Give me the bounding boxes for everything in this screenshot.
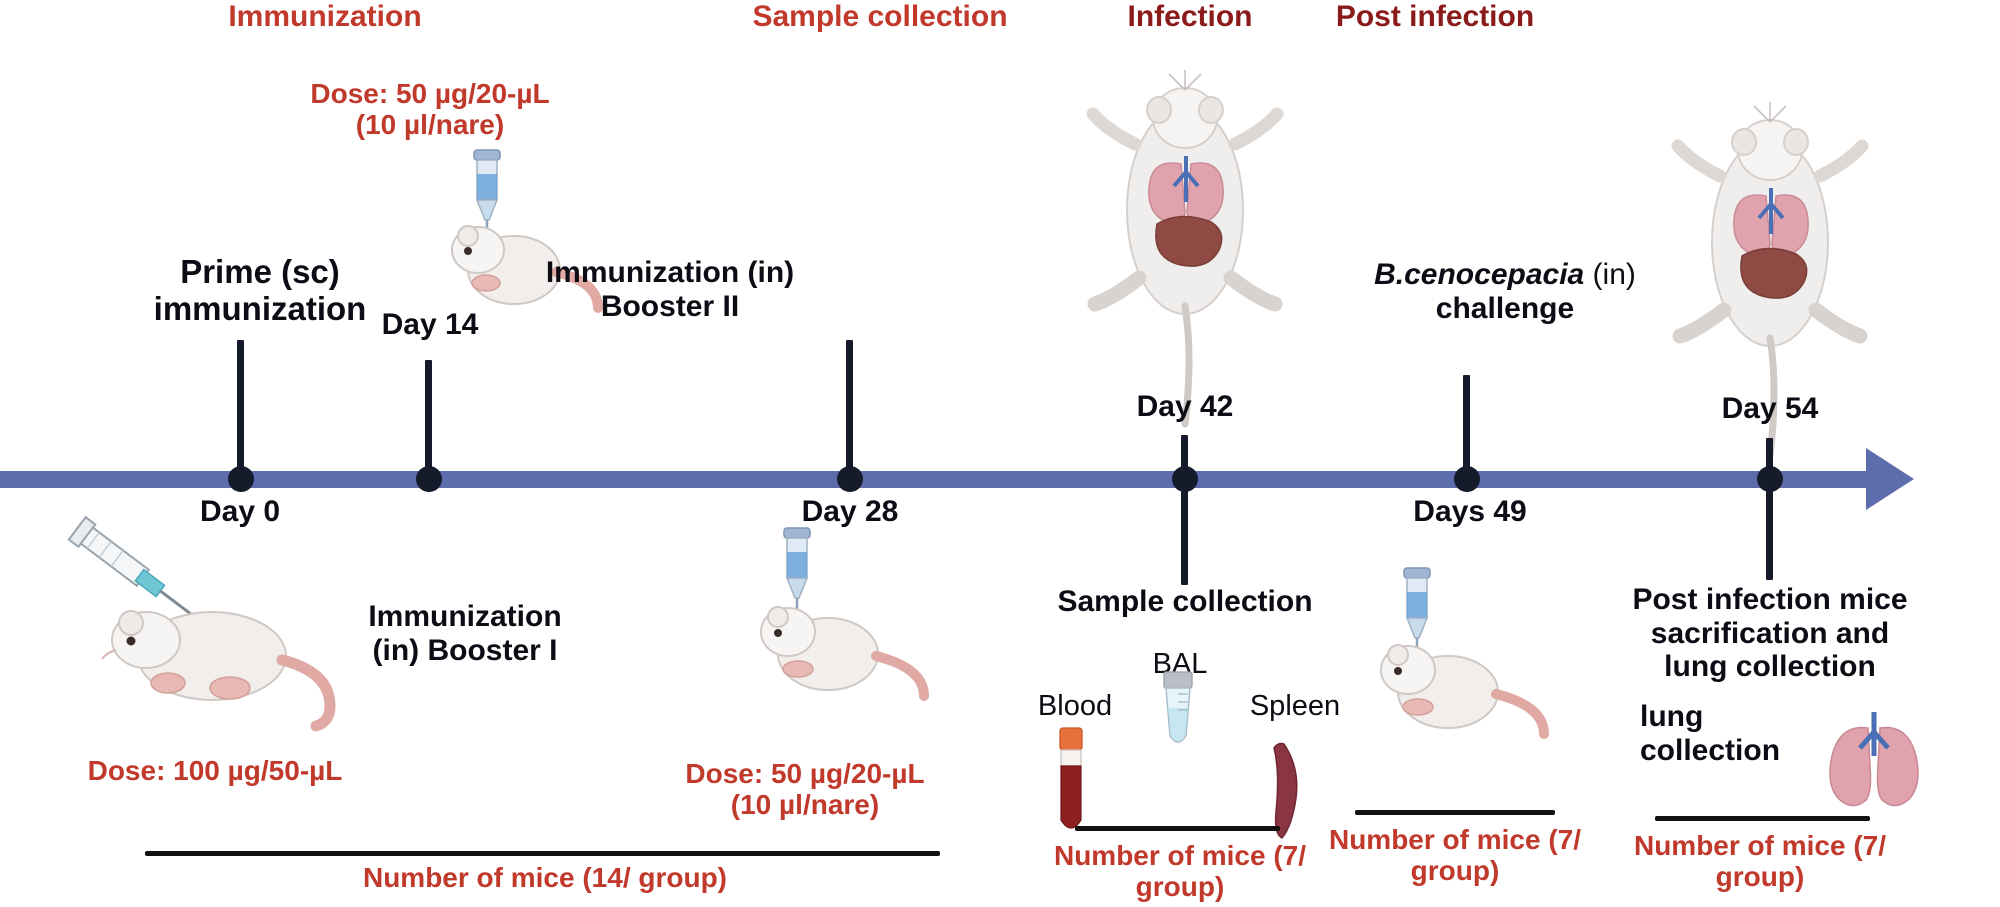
nasal-dropper-mouse-illustration-2: [740, 528, 970, 708]
phase-header-sample-collection: Sample collection: [720, 0, 1040, 34]
event-day28-title-line1: Immunization (in): [500, 256, 840, 290]
event-day49-title-line1: B.cenocepacia (in): [1320, 258, 1690, 292]
dose-label-day28-line2: (10 µl/nare): [615, 789, 995, 820]
node-day49: [1454, 466, 1480, 492]
event-day42-title: Sample collection: [1040, 585, 1330, 619]
bracket-post-group: [1655, 816, 1870, 821]
dose-label-day14-line1: Dose: 50 µg/20-µL: [265, 78, 595, 109]
mice-count-infection-line2: group): [1310, 855, 1600, 886]
dose-label-day28: Dose: 50 µg/20-µL (10 µl/nare): [615, 758, 995, 821]
dose-label-day14-line2: (10 µl/nare): [265, 109, 595, 140]
event-day54-sub-line2: collection: [1640, 734, 1820, 768]
node-day14: [416, 466, 442, 492]
event-day54-title: Post infection mice sacrification and lu…: [1580, 583, 1960, 684]
dissected-mouse-illustration-2: [1680, 92, 1860, 412]
event-day0-title-line1: Prime (sc): [110, 254, 410, 291]
spleen-icon: [1264, 740, 1314, 850]
stem-day28: [846, 340, 853, 478]
mice-count-sample: Number of mice (7/ group): [1035, 840, 1325, 903]
event-day54-title-line3: lung collection: [1580, 650, 1960, 684]
dose-label-day28-line1: Dose: 50 µg/20-µL: [615, 758, 995, 789]
day-label-day0: Day 0: [140, 495, 340, 529]
sample-label-blood: Blood: [1010, 690, 1140, 723]
event-day14-title: Immunization (in) Booster I: [295, 600, 635, 667]
event-day54-title-line1: Post infection mice: [1580, 583, 1960, 617]
mice-count-post-line2: group): [1610, 861, 1910, 892]
event-day14-title-line1: Immunization: [295, 600, 635, 634]
route-label: (in): [1584, 258, 1636, 291]
lungs-icon: [1820, 706, 1930, 806]
day-label-day54: Day 54: [1670, 392, 1870, 426]
bracket-sample-group: [1075, 826, 1280, 831]
node-day0: [228, 466, 254, 492]
pathogen-name: B.cenocepacia: [1374, 258, 1584, 291]
phase-header-immunization: Immunization: [180, 0, 470, 34]
stem-day0: [237, 340, 244, 480]
event-day54-title-line2: sacrification and: [1580, 617, 1960, 651]
day-label-day42: Day 42: [1085, 390, 1285, 424]
stem-day42-lower: [1181, 480, 1188, 585]
dissected-mouse-illustration: [1095, 60, 1275, 380]
dose-label-day14: Dose: 50 µg/20-µL (10 µl/nare): [265, 78, 595, 141]
node-day28: [837, 466, 863, 492]
mice-count-post: Number of mice (7/ group): [1610, 830, 1910, 893]
stem-day54-lower: [1766, 480, 1773, 580]
mice-count-infection: Number of mice (7/ group): [1310, 824, 1600, 887]
event-day28-title-line2: Booster II: [500, 290, 840, 324]
timeline-arrow-icon: [1866, 448, 1914, 510]
sample-label-spleen: Spleen: [1220, 690, 1370, 723]
event-day49-title: B.cenocepacia (in) challenge: [1320, 258, 1690, 325]
event-day49-title-line2: challenge: [1320, 292, 1690, 326]
bal-tube-icon: [1148, 670, 1208, 770]
mice-count-infection-line1: Number of mice (7/: [1310, 824, 1600, 855]
mice-count-total: Number of mice (14/ group): [295, 862, 795, 894]
dose-label-day0: Dose: 100 µg/50-µL: [35, 755, 395, 787]
mice-count-sample-line1: Number of mice (7/: [1035, 840, 1325, 871]
mice-count-post-line1: Number of mice (7/: [1610, 830, 1910, 861]
stem-day14: [425, 360, 432, 475]
mice-count-sample-line2: group): [1035, 871, 1325, 902]
day-label-day49: Days 49: [1370, 495, 1570, 529]
event-day28-title: Immunization (in) Booster II: [500, 256, 840, 323]
nasal-dropper-mouse-illustration-3: [1360, 568, 1590, 748]
event-day54-sub-line1: lung: [1640, 700, 1820, 734]
event-day14-title-line2: (in) Booster I: [295, 634, 635, 668]
bracket-infection-group: [1355, 810, 1555, 815]
day-label-day28: Day 28: [750, 495, 950, 529]
timeline-figure: Immunization Sample collection Infection…: [0, 0, 2000, 907]
timeline-axis: [0, 471, 1870, 488]
stem-day49: [1463, 375, 1470, 477]
event-day54-subtitle: lung collection: [1640, 700, 1820, 767]
phase-header-post-infection: Post infection: [1275, 0, 1595, 34]
bracket-total-group: [145, 851, 940, 856]
